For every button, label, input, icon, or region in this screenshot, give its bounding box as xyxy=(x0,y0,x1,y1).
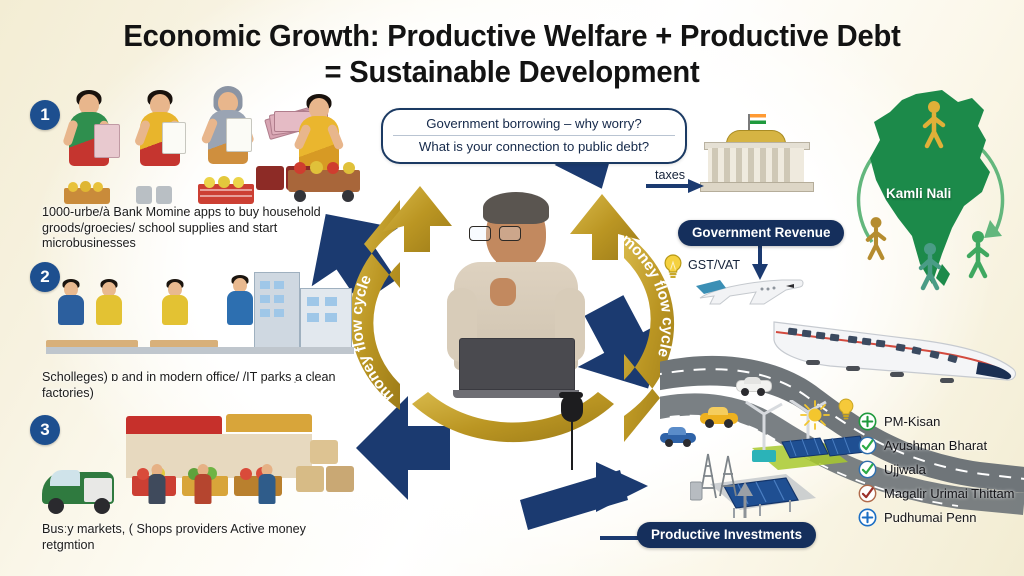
glasses-left-lens xyxy=(469,226,491,241)
scheme-label: PM-Kisan xyxy=(884,414,940,429)
money-flow-label-left: money flow cycle xyxy=(348,272,397,404)
productive-investments-badge: Productive Investments xyxy=(637,522,816,548)
illustration-busy-market xyxy=(40,410,360,520)
cart-wheel-2 xyxy=(342,190,354,202)
person-walking-icon-4 xyxy=(856,214,896,262)
lightbulb-icon-secondary xyxy=(834,396,858,424)
produce-crate-red xyxy=(198,184,254,204)
speech-bubble-line-1: Government borrowing – why worry? xyxy=(393,115,675,136)
infographic-canvas: Economic Growth: Productive Welfare + Pr… xyxy=(0,0,1024,576)
person-walking-icon-2 xyxy=(956,228,1000,280)
microphone-stem xyxy=(571,418,574,470)
person-walking-icon-3 xyxy=(908,240,952,292)
building-base xyxy=(700,182,814,192)
sack-3 xyxy=(310,440,338,464)
scheme-item-magalir-urimai-thittam[interactable]: Magalir Urimai Thittam xyxy=(858,484,1015,503)
government-revenue-badge: Government Revenue xyxy=(678,220,844,246)
market-awning-2 xyxy=(226,414,312,432)
steel-vessel-2 xyxy=(156,186,172,204)
lightbulb-icon xyxy=(661,253,685,281)
check-circle-icon xyxy=(858,460,877,479)
sun-icon xyxy=(800,400,830,430)
student-figure-3 xyxy=(158,282,192,344)
government-building-icon xyxy=(700,126,812,198)
shopper-figure-3 xyxy=(254,464,280,512)
step-3-caption: Busːy markets, ( Shops providers Active … xyxy=(42,522,342,553)
scheme-item-pudhumai-penn[interactable]: Pudhumai Penn xyxy=(858,508,1015,527)
microphone-base xyxy=(559,392,583,398)
professional-figure xyxy=(224,278,256,344)
check-circle-icon xyxy=(858,484,877,503)
car-blue xyxy=(660,428,696,447)
map-region-label: Kamli Nali xyxy=(886,186,951,201)
scheme-label: Magalir Urimai Thittam xyxy=(884,486,1015,501)
auto-rickshaw xyxy=(42,456,118,514)
glasses-right-lens xyxy=(499,226,521,241)
document-paper-2 xyxy=(226,118,252,152)
india-flag xyxy=(750,114,766,124)
sack-1 xyxy=(296,466,324,492)
step-2-caption: Scholleges) ɒ and in modern office/ /IT … xyxy=(42,370,342,401)
taxes-label: taxes xyxy=(655,168,685,182)
shopper-figure-2 xyxy=(190,464,216,512)
scheme-item-pm-kisan[interactable]: PM-Kisan xyxy=(858,412,1015,431)
illustration-education-offices xyxy=(46,258,346,366)
ground-line xyxy=(46,347,354,354)
student-figure-1 xyxy=(54,282,88,344)
speech-bubble: Government borrowing – why worry? What i… xyxy=(381,108,687,164)
cart-wheel-1 xyxy=(294,190,306,202)
speaker-hair xyxy=(483,192,549,224)
sack-2 xyxy=(326,466,354,492)
check-circle-icon xyxy=(858,436,877,455)
produce-basket-1 xyxy=(64,188,110,204)
car-yellow xyxy=(700,408,738,428)
title-line-2: = Sustainable Development xyxy=(31,54,994,90)
laptop xyxy=(453,338,579,398)
woman-figure-3 xyxy=(198,92,258,190)
title-line-1: Economic Growth: Productive Welfare + Pr… xyxy=(123,18,900,53)
scheme-item-ujjwala[interactable]: Ujjwala xyxy=(858,460,1015,479)
speaker-hand-on-chin xyxy=(490,278,516,306)
speaker-photo xyxy=(441,192,591,392)
step-1-caption: 1000-urbe/à Bank Momine apps to buy hous… xyxy=(42,205,342,252)
speech-bubble-line-2: What is your connection to public debt? xyxy=(393,138,675,156)
woman-figure-2 xyxy=(132,94,188,190)
welfare-schemes-list: PM-Kisan Ayushman Bharat Ujjwala Magalir… xyxy=(858,412,1015,532)
illustration-women-shopping xyxy=(60,96,360,204)
steel-vessel-1 xyxy=(136,186,152,204)
shopping-cart xyxy=(288,170,360,192)
scheme-label: Ayushman Bharat xyxy=(884,438,987,453)
step-number-1: 1 xyxy=(30,100,60,130)
scheme-label: Pudhumai Penn xyxy=(884,510,977,525)
step-number-2: 2 xyxy=(30,262,60,292)
office-building-2 xyxy=(300,288,352,348)
office-building-1 xyxy=(254,272,300,348)
market-awning-1 xyxy=(126,416,222,434)
currency-note xyxy=(94,124,120,158)
shopper-figure-1 xyxy=(144,464,170,512)
red-bag-1 xyxy=(256,166,284,190)
person-walking-icon-1 xyxy=(912,98,956,150)
scheme-label: Ujjwala xyxy=(884,462,926,477)
student-figure-2 xyxy=(92,282,126,344)
document-paper xyxy=(162,122,186,154)
plus-circle-icon xyxy=(858,508,877,527)
page-title: Economic Growth: Productive Welfare + Pr… xyxy=(31,18,994,90)
laptop-screen xyxy=(459,338,575,390)
gst-vat-label: GST/VAT xyxy=(688,258,740,272)
step-number-3: 3 xyxy=(30,415,60,445)
high-speed-train-icon xyxy=(770,308,1020,386)
scheme-item-ayushman-bharat[interactable]: Ayushman Bharat xyxy=(858,436,1015,455)
woman-figure-1 xyxy=(60,94,118,190)
car-white xyxy=(736,378,770,396)
plus-circle-icon xyxy=(858,412,877,431)
